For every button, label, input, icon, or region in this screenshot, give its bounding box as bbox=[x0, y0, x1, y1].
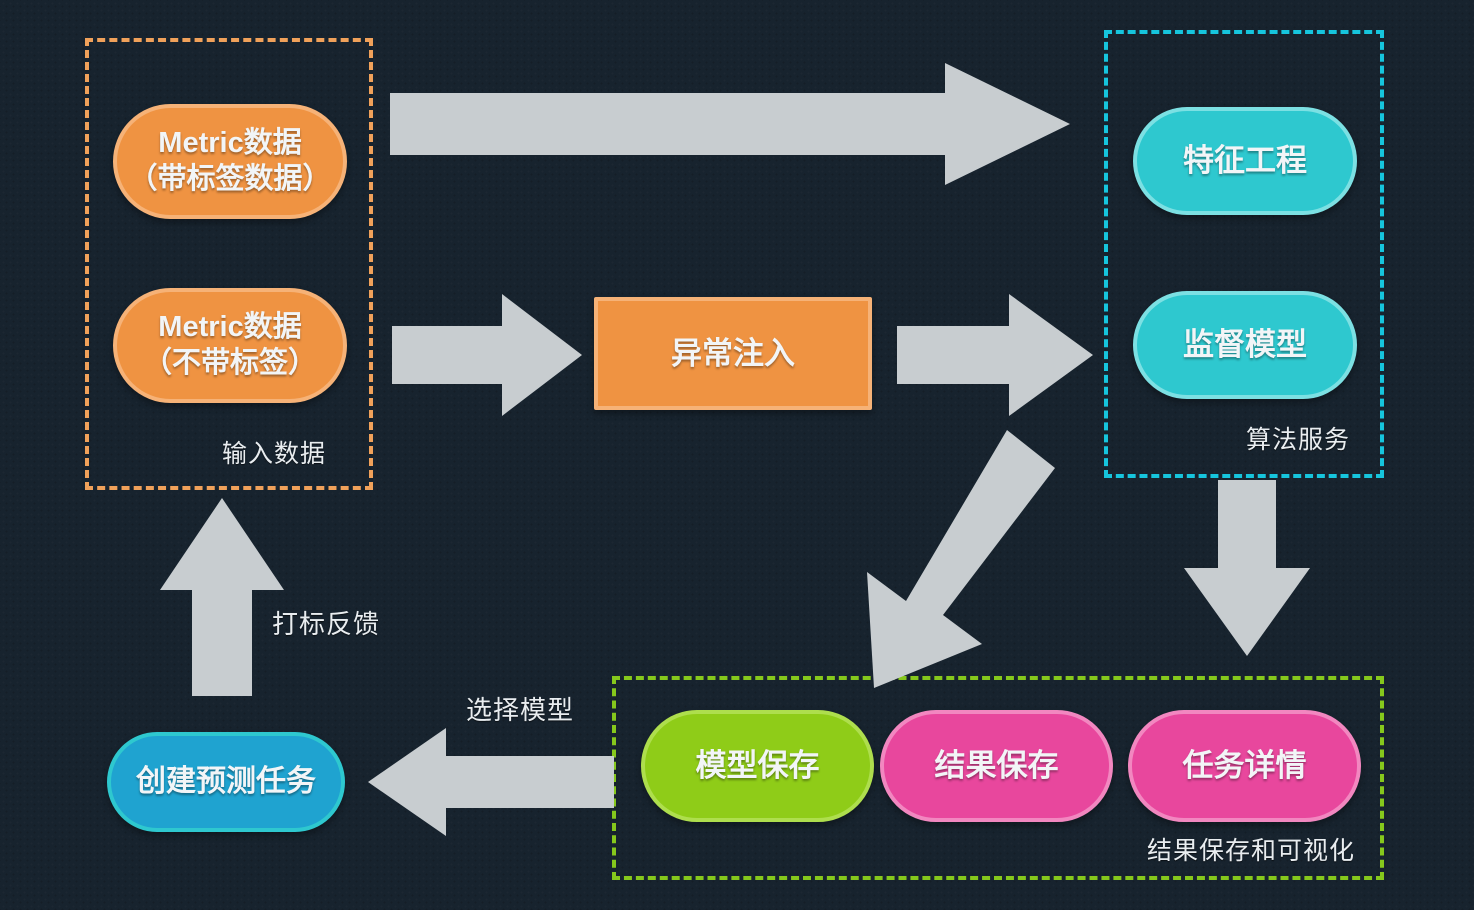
node-metric-data-unlabeled[interactable]: Metric数据 （不带标签） bbox=[113, 288, 347, 403]
edge-label-labeling-feedback: 打标反馈 bbox=[272, 604, 380, 641]
node-metric-data-unlabeled-line1: Metric数据 bbox=[158, 310, 301, 345]
arrow-right-to-algorithm-service bbox=[897, 292, 1093, 418]
node-supervised-model[interactable]: 监督模型 bbox=[1133, 291, 1357, 399]
node-metric-data-labeled-line2: （带标签数据） bbox=[128, 162, 331, 197]
arrow-right-to-anomaly-injection bbox=[392, 292, 582, 418]
node-feature-engineering[interactable]: 特征工程 bbox=[1133, 107, 1357, 215]
group-algorithm-service-label: 算法服务 bbox=[1246, 420, 1350, 456]
node-task-detail[interactable]: 任务详情 bbox=[1128, 710, 1361, 822]
node-result-save-label: 结果保存 bbox=[935, 747, 1059, 785]
node-metric-data-unlabeled-line2: （不带标签） bbox=[143, 346, 317, 381]
diagram-canvas: 输入数据 算法服务 结果保存和可视化 Metric数据 （带标签数据） Metr… bbox=[0, 0, 1474, 910]
node-model-save-label: 模型保存 bbox=[696, 747, 820, 785]
node-task-detail-label: 任务详情 bbox=[1183, 747, 1307, 785]
node-metric-data-labeled[interactable]: Metric数据 （带标签数据） bbox=[113, 104, 347, 219]
node-model-save[interactable]: 模型保存 bbox=[641, 710, 874, 822]
arrow-left-to-create-prediction-task bbox=[368, 728, 614, 836]
node-result-save[interactable]: 结果保存 bbox=[880, 710, 1113, 822]
node-supervised-model-label: 监督模型 bbox=[1183, 326, 1307, 364]
arrow-diagonal-down-left-to-model-save bbox=[855, 430, 1055, 692]
arrow-down-to-result-group bbox=[1184, 480, 1310, 656]
group-result-visualization-label: 结果保存和可视化 bbox=[1147, 831, 1355, 867]
edge-label-select-model: 选择模型 bbox=[466, 690, 574, 727]
arrow-up-labeling-feedback bbox=[160, 498, 284, 696]
node-create-prediction-task-label: 创建预测任务 bbox=[136, 764, 316, 801]
arrow-right-long-to-feature-engineering bbox=[390, 60, 1070, 188]
node-anomaly-injection[interactable]: 异常注入 bbox=[594, 297, 872, 410]
group-algorithm-service bbox=[1104, 30, 1384, 478]
node-metric-data-labeled-line1: Metric数据 bbox=[158, 126, 301, 161]
node-create-prediction-task[interactable]: 创建预测任务 bbox=[107, 732, 345, 832]
node-feature-engineering-label: 特征工程 bbox=[1183, 142, 1307, 180]
node-anomaly-injection-label: 异常注入 bbox=[671, 335, 795, 373]
group-input-data-label: 输入数据 bbox=[222, 434, 326, 470]
